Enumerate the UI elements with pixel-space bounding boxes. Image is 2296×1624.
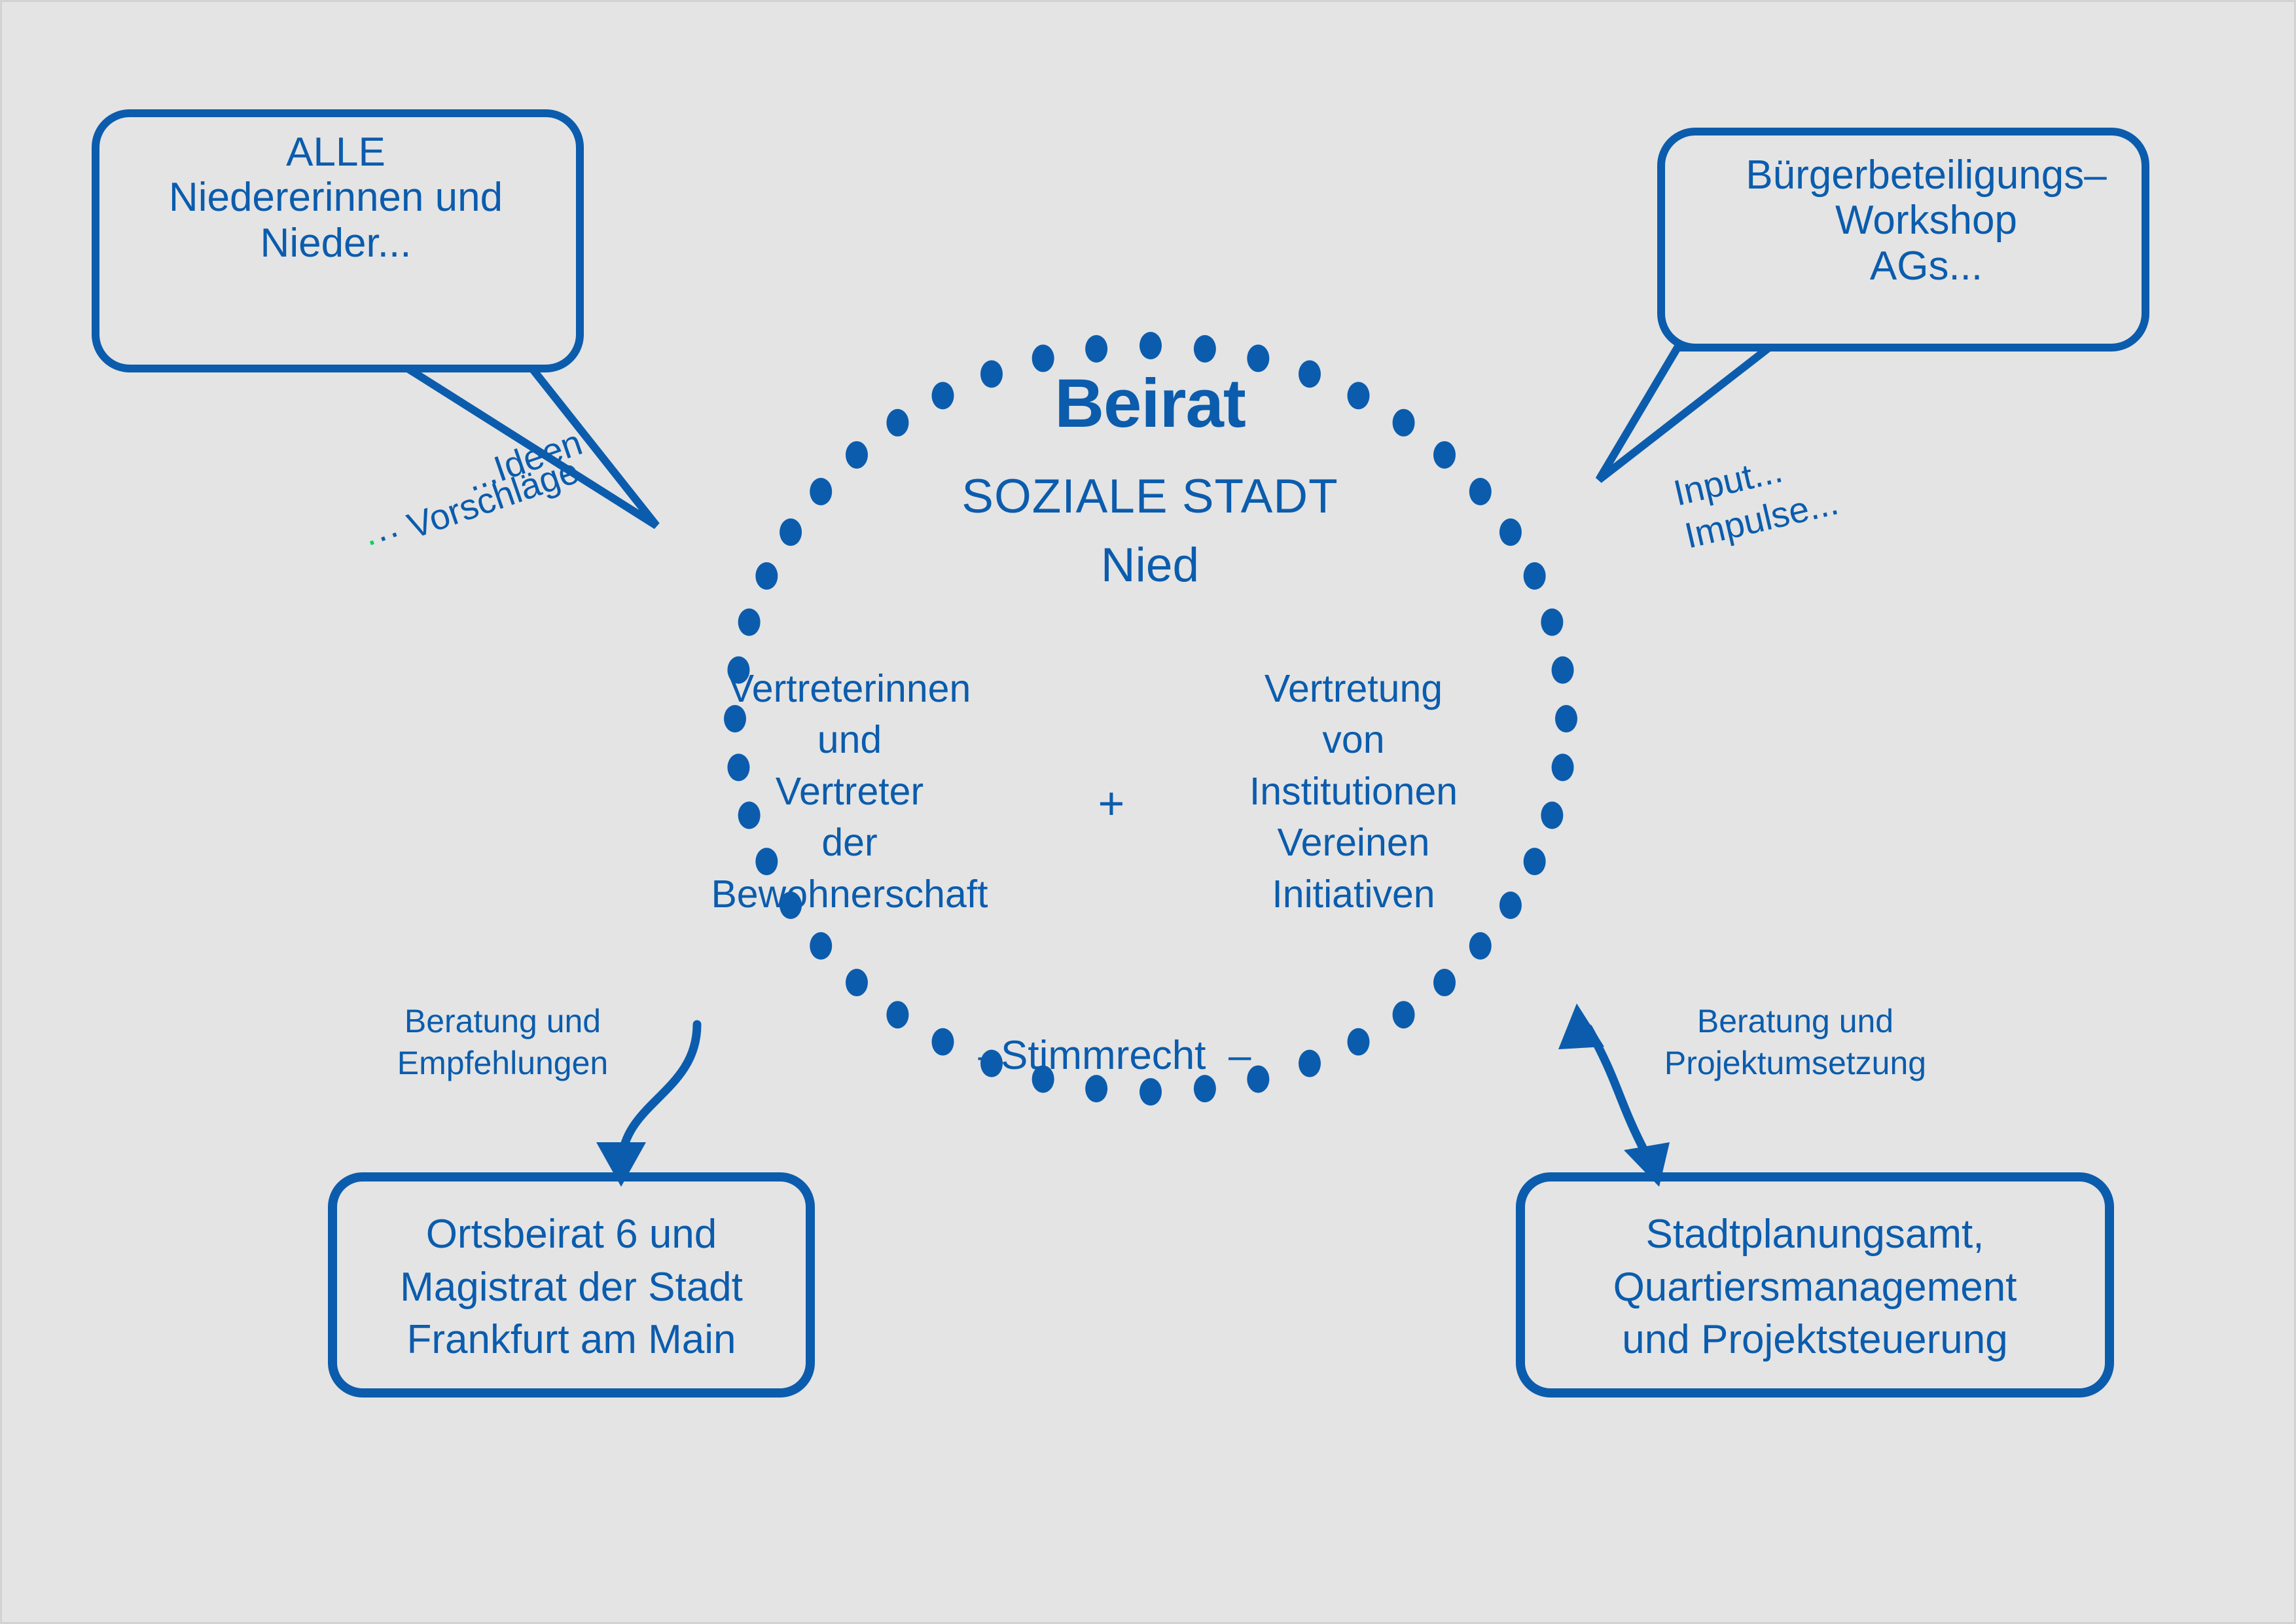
circle-dot: [1541, 802, 1563, 829]
circle-dot: [755, 562, 778, 590]
circle-dot: [1469, 932, 1492, 960]
box-bottom-left-label: Ortsbeirat 6 und Magistrat der Stadt Fra…: [342, 1208, 800, 1367]
circle-dot: [1348, 1028, 1370, 1056]
circle-dot: [1433, 441, 1456, 469]
circle-dot: [1555, 705, 1577, 732]
circle-dot: [846, 441, 868, 469]
diagram-canvas: ALLE Niedererinnen und Nieder... Bürgerb…: [0, 0, 2296, 1624]
circle-dot: [810, 932, 832, 960]
center-title: Beirat: [823, 365, 1477, 442]
circle-dot: [1139, 1078, 1162, 1106]
circle-dot: [1194, 1075, 1216, 1102]
box-bottom-right-label: Stadtplanungsamt, Quartiersmanagement un…: [1527, 1208, 2103, 1367]
center-right-column: Vertretung von Institutionen Vereinen In…: [1177, 663, 1530, 920]
circle-dot: [1499, 518, 1522, 546]
circle-dot: [1541, 608, 1563, 636]
bubble-top-right-label: Bürgerbeteiligungs– Workshop AGs...: [1684, 153, 2168, 289]
circle-dot: [1085, 1075, 1107, 1102]
bubble-top-left-label: ALLE Niedererinnen und Nieder...: [94, 130, 578, 266]
circle-dot: [1393, 1001, 1415, 1028]
circle-dot: [1433, 969, 1456, 996]
circle-dot: [886, 1001, 908, 1028]
center-left-column: Vertreterinnen und Vertreter der Bewohne…: [663, 663, 1036, 920]
arrow-right-caption: Beratung und Projektumsetzung: [1641, 1000, 1949, 1084]
circle-dot: [738, 608, 761, 636]
circle-dot: [1552, 753, 1574, 781]
circle-dot: [1085, 335, 1107, 363]
circle-dot: [1552, 657, 1574, 684]
circle-dot: [780, 518, 802, 546]
arrow-left-caption: Beratung und Empfehlungen: [365, 1000, 640, 1084]
circle-dot: [1139, 332, 1162, 359]
circle-dot: [846, 969, 868, 996]
arrowhead-right-up: [1558, 1003, 1604, 1049]
center-subtitle-line2: Nied: [823, 539, 1477, 592]
stimmrecht-footer: –Stimmrecht –: [905, 1033, 1324, 1078]
circle-dot: [1194, 335, 1216, 363]
circle-dot: [1524, 562, 1546, 590]
plus-symbol: +: [1069, 778, 1154, 829]
center-subtitle-line1: SOZIALE STADT: [823, 470, 1477, 524]
